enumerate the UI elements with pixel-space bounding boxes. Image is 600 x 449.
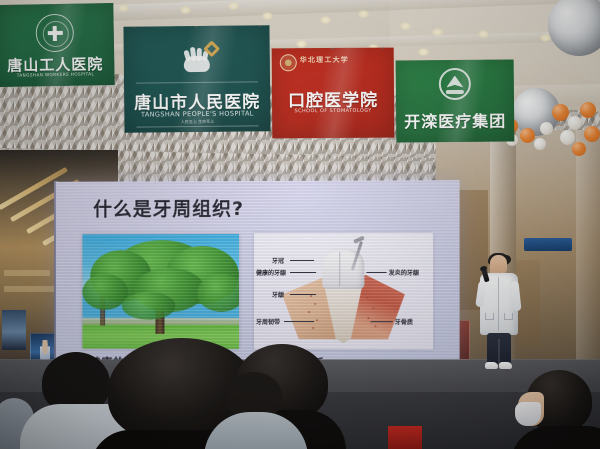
banner-tangshan-peoples-hospital: 唐山市人民医院 TANGSHAN PEOPLE'S HOSPITAL 人民至上 … bbox=[123, 25, 270, 133]
banner-kailuan-medical-group: 开滦医疗集团 bbox=[396, 59, 515, 142]
shop-sign bbox=[524, 238, 572, 251]
ceiling-downlight bbox=[180, 6, 191, 14]
presenter-legs bbox=[487, 333, 511, 364]
store-display-panel bbox=[2, 310, 26, 350]
slide-title: 什么是牙周组织? bbox=[93, 194, 244, 221]
banner-university-cn: 华北理工大学 bbox=[300, 55, 349, 65]
presenter-arm-right bbox=[510, 281, 521, 312]
ceiling-downlight bbox=[400, 22, 411, 30]
ceiling-downlight bbox=[418, 48, 429, 56]
balloon bbox=[520, 128, 535, 143]
red-folder bbox=[388, 426, 422, 449]
hospital-cross-logo-icon bbox=[35, 14, 74, 53]
diagram-label-periodontal-ligament: 牙周韧带 bbox=[256, 317, 280, 326]
diagram-label-gingiva: 牙龈 bbox=[272, 290, 284, 299]
banner-name-en: SCHOOL OF STOMATOLOGY bbox=[272, 108, 394, 115]
presenter bbox=[476, 255, 528, 373]
banner-tangshan-workers-hospital: 唐山工人医院 TANGSHAN WORKERS HOSPITAL bbox=[0, 3, 115, 87]
presenter-shoe-right bbox=[499, 362, 512, 369]
banner-name-en: TANGSHAN PEOPLE'S HOSPITAL bbox=[124, 109, 270, 119]
ceiling-downlight bbox=[478, 30, 489, 38]
balloon bbox=[580, 102, 596, 118]
kailuan-group-logo-icon bbox=[439, 68, 471, 100]
banner-school-of-stomatology: 华北理工大学 口腔医学院 SCHOOL OF STOMATOLOGY bbox=[272, 48, 395, 139]
balloon bbox=[572, 142, 586, 156]
banner-name-cn: 开滦医疗集团 bbox=[396, 107, 514, 132]
diagram-label-crown: 牙冠 bbox=[272, 256, 284, 265]
presenter-head bbox=[490, 255, 507, 275]
photo-scene: 唐山工人医院 TANGSHAN WORKERS HOSPITAL 唐山市人民医院… bbox=[0, 0, 600, 449]
ceiling-downlight bbox=[358, 10, 369, 18]
ceiling-downlight bbox=[296, 40, 307, 48]
university-seal-icon bbox=[280, 54, 297, 71]
balloon bbox=[568, 116, 582, 130]
balloon bbox=[584, 126, 600, 142]
ceiling-downlight bbox=[432, 28, 443, 36]
face-mask bbox=[515, 402, 541, 426]
balloon bbox=[540, 122, 553, 135]
presenter-shoe-left bbox=[485, 362, 498, 369]
caring-hand-logo-icon bbox=[180, 42, 214, 72]
diagram-label-healthy-gingiva: 健康的牙龈 bbox=[256, 268, 286, 277]
balloon bbox=[560, 130, 575, 145]
ceiling-downlight bbox=[320, 16, 331, 24]
diagram-label-cementum: 牙骨质 bbox=[395, 317, 413, 326]
balloon bbox=[534, 138, 546, 150]
ceiling-downlight bbox=[118, 4, 129, 12]
banner-name-en: TANGSHAN WORKERS HOSPITAL bbox=[0, 71, 115, 78]
ceiling-downlight bbox=[262, 12, 273, 20]
balloon bbox=[552, 104, 569, 121]
ceiling-downlight bbox=[228, 2, 239, 10]
slide-tree-photo bbox=[82, 234, 239, 349]
led-presentation-screen: 什么是牙周组织? bbox=[56, 180, 460, 378]
diagram-label-inflamed-gingiva: 发炎的牙龈 bbox=[389, 268, 419, 277]
periodontal-diagram: 牙冠 健康的牙龈 牙龈 牙周韧带 发炎的牙龈 牙骨质 bbox=[254, 233, 433, 350]
